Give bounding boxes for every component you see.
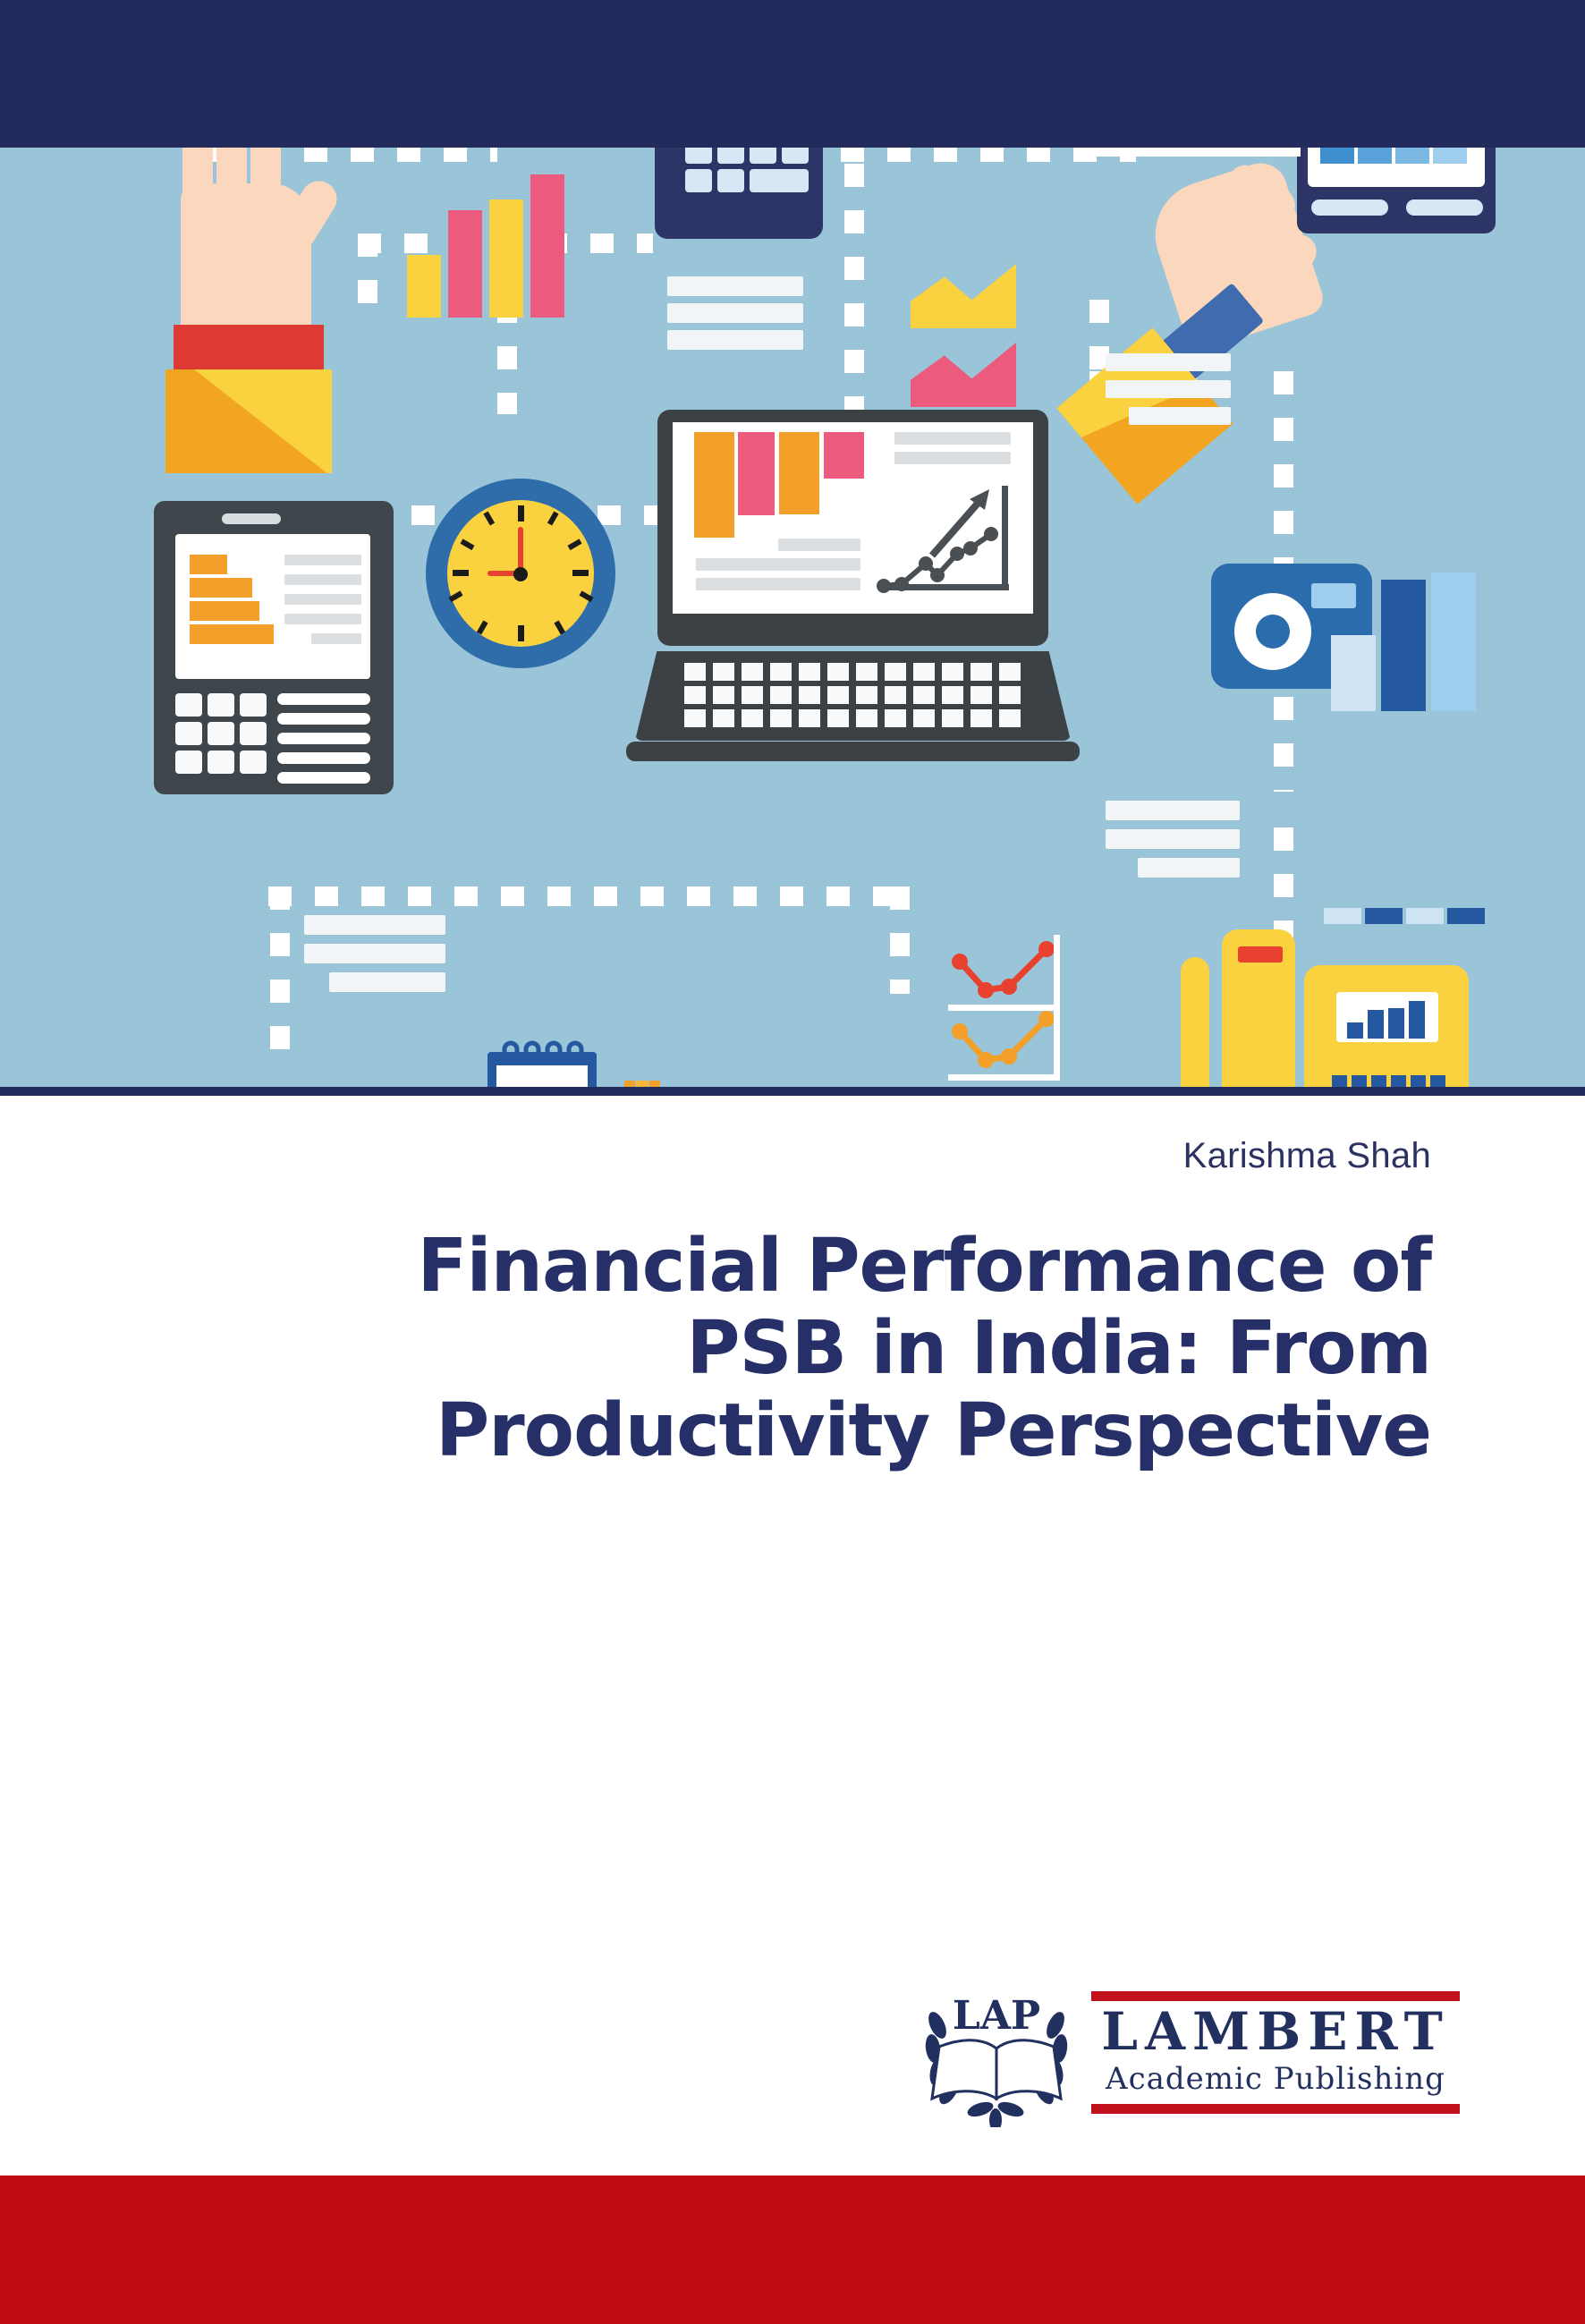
dashed-line-icon [841, 148, 1136, 162]
svg-text:LAP: LAP [953, 1993, 1040, 2039]
illustration-base-line [0, 1087, 1585, 1096]
dashed-line-icon [270, 886, 290, 1065]
text-line-bar [1106, 801, 1240, 820]
chart-block [1324, 908, 1361, 924]
line-chart-orange [948, 1005, 1082, 1087]
dashed-line-icon [358, 233, 377, 323]
cover-illustration [0, 148, 1585, 1096]
book-cover: Karishma Shah Financial Performance of P… [0, 0, 1585, 2324]
title-line-1: Financial Performance of [161, 1226, 1431, 1308]
title-line-2: PSB in India: From [161, 1308, 1431, 1390]
area-chart-yellow [911, 264, 1016, 328]
author-name: Karishma Shah [0, 1136, 1431, 1176]
chart-block [1406, 908, 1444, 924]
text-line-bar [1106, 353, 1231, 371]
logo-rule-top [1091, 1991, 1460, 2001]
text-line-bar [304, 944, 445, 963]
text-line-bar [667, 303, 803, 323]
publisher-name: LAMBERT [1091, 2001, 1460, 2061]
dashed-line-icon [890, 886, 910, 994]
text-line-bar [1138, 858, 1240, 878]
logo-rule-bottom [1091, 2104, 1460, 2114]
chart-block [1365, 908, 1403, 924]
text-line-bar [1095, 148, 1301, 157]
text-line-bar [329, 972, 445, 992]
text-line-bar [667, 276, 803, 296]
text-line-bar [304, 915, 445, 935]
area-chart-pink [911, 343, 1016, 407]
laptop-line-chart [877, 470, 1024, 599]
text-line-bar [667, 330, 803, 350]
page-title: Financial Performance of PSB in India: F… [161, 1226, 1431, 1472]
dashed-line-icon [268, 886, 912, 906]
publisher-name-block: LAMBERT Academic Publishing [1091, 1991, 1460, 2114]
chart-block [1447, 908, 1485, 924]
top-navy-band [0, 0, 1585, 148]
lap-book-wreath-icon: LAP [921, 1984, 1072, 2127]
publisher-logo: LAP LAMBERT Academic Publishing [921, 1984, 1458, 2136]
text-line-bar [1129, 407, 1231, 425]
publisher-tagline: Academic Publishing [1091, 2061, 1460, 2104]
bottom-red-band [0, 2176, 1585, 2324]
text-line-bar [1106, 380, 1231, 398]
dashed-line-icon [844, 164, 864, 414]
title-line-3: Productivity Perspective [161, 1390, 1431, 1472]
text-line-bar [1106, 829, 1240, 849]
